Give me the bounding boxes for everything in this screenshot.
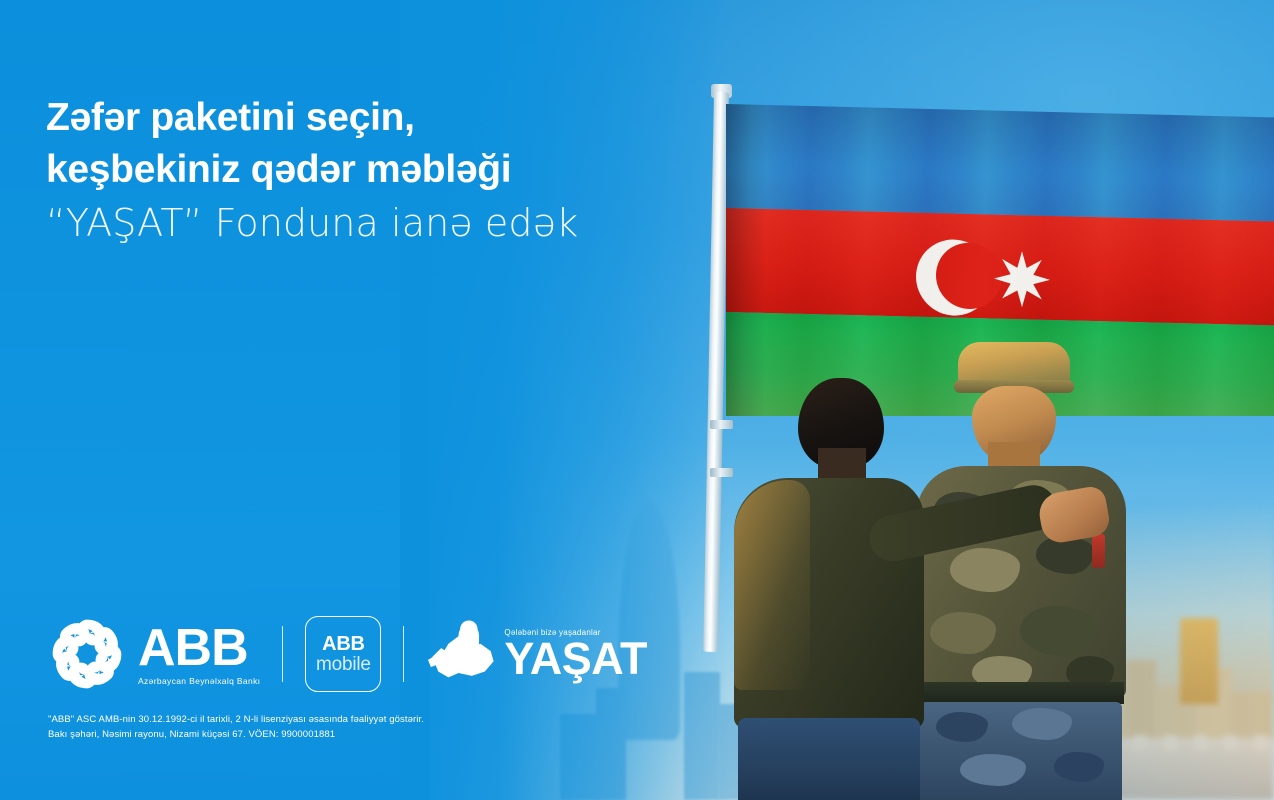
abb-mobile-line-2: mobile	[316, 654, 371, 675]
figures-group	[720, 330, 1190, 800]
abb-pinwheel-icon	[48, 615, 126, 693]
yasat-logo[interactable]: Qələbəni bizə yaşadanlar YAŞAT	[426, 619, 647, 689]
abb-subtitle: Azərbaycan Beynəlxalq Bankı	[138, 676, 260, 686]
abb-mobile-logo[interactable]: ABB mobile	[305, 616, 381, 692]
abb-mobile-line-1: ABB	[322, 634, 364, 654]
headline-line-3: “YAŞAT” Fonduna ianə edək	[46, 196, 746, 250]
soldier-trousers	[920, 702, 1122, 800]
logo-divider-1	[282, 626, 283, 682]
headline-line-2: keşbekiniz qədər məbləği	[46, 144, 746, 196]
logo-bar: ABB Azərbaycan Beynəlxalq Bankı ABB mobi…	[48, 608, 647, 700]
legal-line-2: Bakı şəhəri, Nəsimi rayonu, Nizami küçəs…	[48, 727, 668, 742]
abb-logo[interactable]: ABB Azərbaycan Beynəlxalq Bankı	[48, 615, 260, 693]
headline: Zəfər paketini seçin, keşbekiniz qədər m…	[46, 92, 746, 250]
promo-banner: Zəfər paketini seçin, keşbekiniz qədər m…	[0, 0, 1274, 800]
legal-line-1: "ABB" ASC AMB-nin 30.12.1992-ci il tarix…	[48, 712, 668, 727]
shoulder-patch	[1092, 534, 1105, 568]
saluting-soldier-icon	[426, 619, 500, 689]
logo-divider-2	[403, 626, 404, 682]
legal-disclaimer: "ABB" ASC AMB-nin 30.12.1992-ci il tarix…	[48, 712, 668, 742]
yasat-wordmark: YAŞAT	[504, 638, 647, 680]
headline-line-1: Zəfər paketini seçin,	[46, 92, 746, 144]
civilian-jeans	[738, 718, 920, 800]
abb-wordmark: ABB	[138, 623, 260, 673]
